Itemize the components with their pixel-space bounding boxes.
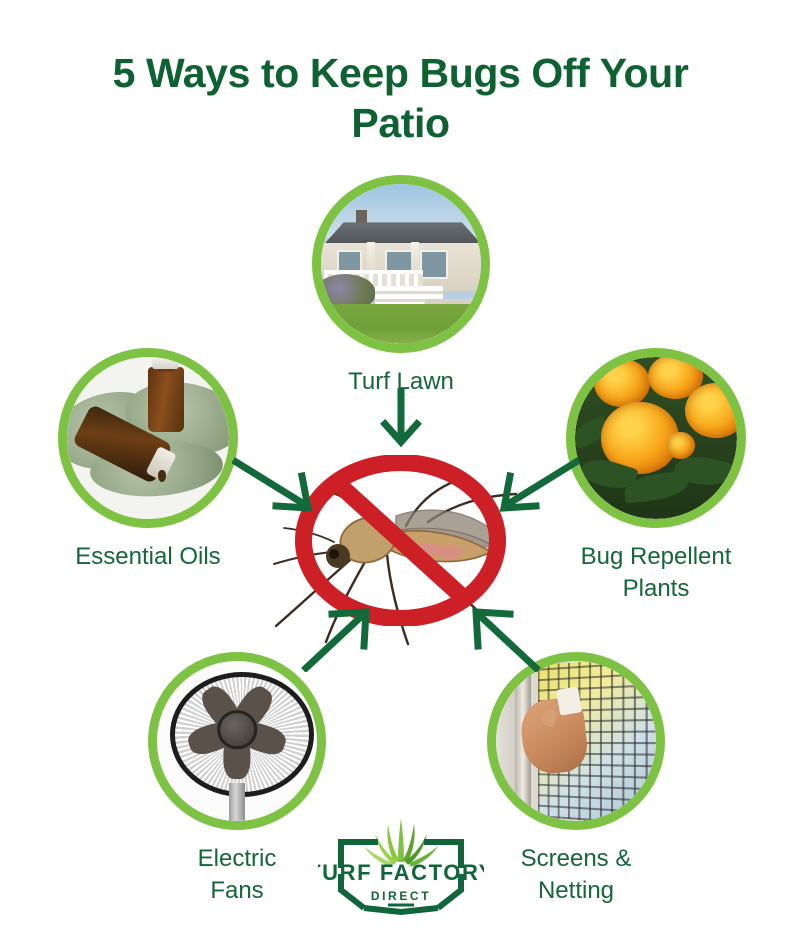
page-title: 5 Ways to Keep Bugs Off Your Patio	[60, 48, 741, 148]
electric-fans-image-circle[interactable]	[148, 652, 326, 830]
screens-netting-photo	[496, 661, 656, 821]
node-electric-fans[interactable]: ElectricFans	[148, 652, 326, 907]
essential-oils-label: Essential Oils	[58, 541, 238, 573]
logo-primary-text: TURF FACTORY	[318, 860, 484, 885]
logo-secondary-text: DIRECT	[371, 889, 431, 903]
arrow-left-to-center-icon	[232, 456, 318, 516]
node-bug-repellent-plants[interactable]: Bug RepellentPlants	[566, 348, 746, 605]
arrow-right-to-center-icon	[494, 456, 580, 516]
node-screens-netting[interactable]: Screens &Netting	[487, 652, 665, 907]
arrow-bottom-right-to-center-icon	[462, 606, 542, 672]
arrow-bottom-left-to-center-icon	[300, 606, 380, 672]
screens-netting-image-circle[interactable]	[487, 652, 665, 830]
screens-netting-label: Screens &Netting	[487, 843, 665, 907]
bug-repellent-plants-label: Bug RepellentPlants	[566, 541, 746, 605]
turf-lawn-photo	[321, 184, 481, 344]
turf-lawn-image-circle[interactable]	[312, 175, 490, 353]
node-turf-lawn[interactable]: Turf Lawn	[312, 175, 490, 398]
bug-repellent-plants-image-circle[interactable]	[566, 348, 746, 528]
node-essential-oils[interactable]: Essential Oils	[58, 348, 238, 573]
turf-factory-direct-logo-icon: TURF FACTORY DIRECT	[318, 812, 484, 918]
electric-fans-label: ElectricFans	[148, 843, 326, 907]
arrow-top-down-icon	[368, 388, 434, 450]
bug-repellent-plants-photo	[575, 357, 737, 519]
prohibition-no-symbol-icon	[295, 455, 506, 626]
essential-oils-photo	[67, 357, 229, 519]
electric-fans-photo	[157, 661, 317, 821]
essential-oils-image-circle[interactable]	[58, 348, 238, 528]
infographic-page: 5 Ways to Keep Bugs Off Your Patio	[0, 0, 801, 951]
brand-logo[interactable]: TURF FACTORY DIRECT	[318, 812, 484, 918]
